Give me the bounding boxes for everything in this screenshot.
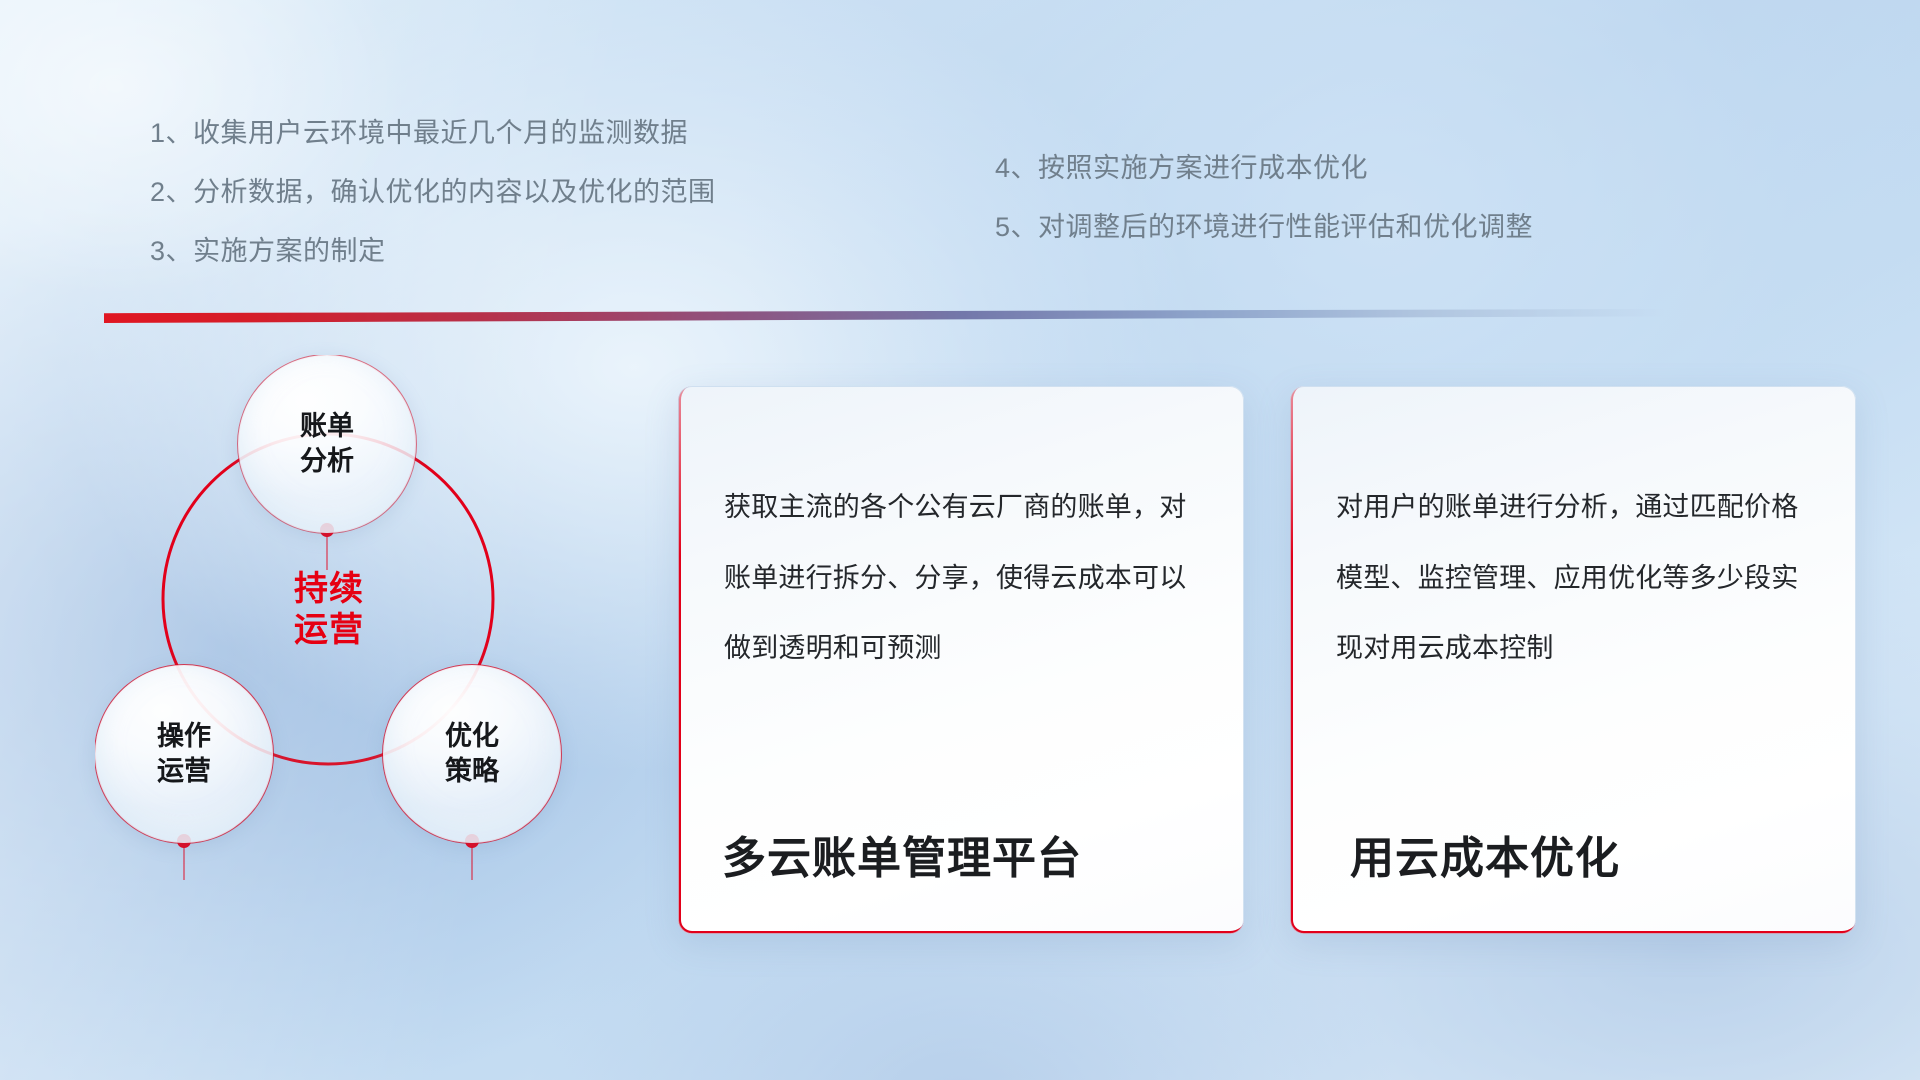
step-item-1: 1、收集用户云环境中最近几个月的监测数据 [150,120,716,147]
feature-card-2-body: 对用户的账单进行分析，通过匹配价格模型、监控管理、应用优化等多少段实现对用云成本… [1336,472,1816,684]
feature-card-1-title: 多云账单管理平台 [722,822,1214,886]
steps-list-right: 4、按照实施方案进行成本优化 5、对调整后的环境进行性能评估和优化调整 [995,155,1533,241]
feature-card-2-rule [1330,754,1806,762]
step-item-4: 4、按照实施方案进行成本优化 [995,155,1533,182]
step-item-3: 3、实施方案的制定 [150,238,716,265]
step-item-2: 2、分析数据，确认优化的内容以及优化的范围 [150,179,716,206]
feature-card-cloud-cost-optimization[interactable]: 对用户的账单进行分析，通过匹配价格模型、监控管理、应用优化等多少段实现对用云成本… [1290,386,1856,934]
section-divider-bar [104,309,1664,323]
venn-bubble-right-label: 优化 策略 [445,719,499,788]
venn-bubble-top-line2: 分析 [300,446,354,476]
venn-bubble-left-line2: 运营 [157,756,211,786]
venn-bubble-top-label: 账单 分析 [300,409,354,478]
venn-diagram: 账单 分析 操作 运营 优化 策略 持续 运营 [95,355,655,955]
feature-card-1-body: 获取主流的各个公有云厂商的账单，对账单进行拆分、分享，使得云成本可以做到透明和可… [724,472,1204,684]
venn-bubble-top-line1: 账单 [300,411,354,441]
feature-card-2-title: 用云成本优化 [1350,822,1826,886]
steps-list-left: 1、收集用户云环境中最近几个月的监测数据 2、分析数据，确认优化的内容以及优化的… [150,120,716,265]
venn-bubble-left-line1: 操作 [157,721,211,751]
step-item-5: 5、对调整后的环境进行性能评估和优化调整 [995,214,1533,241]
feature-card-multicloud-billing[interactable]: 获取主流的各个公有云厂商的账单，对账单进行拆分、分享，使得云成本可以做到透明和可… [678,386,1244,934]
venn-bubble-right-line2: 策略 [445,756,499,786]
venn-bubble-left-label: 操作 运营 [157,719,211,788]
section-divider [104,309,1664,323]
venn-bubble-right[interactable]: 优化 策略 [383,665,561,843]
venn-bubble-top[interactable]: 账单 分析 [238,355,416,533]
venn-center-label: 持续 运营 [267,569,391,652]
venn-bubble-right-line1: 优化 [445,721,499,751]
venn-center-line2: 运营 [294,611,364,649]
venn-center-line1: 持续 [294,570,364,608]
venn-bubble-left[interactable]: 操作 运营 [95,665,273,843]
feature-card-1-rule [718,754,1194,762]
